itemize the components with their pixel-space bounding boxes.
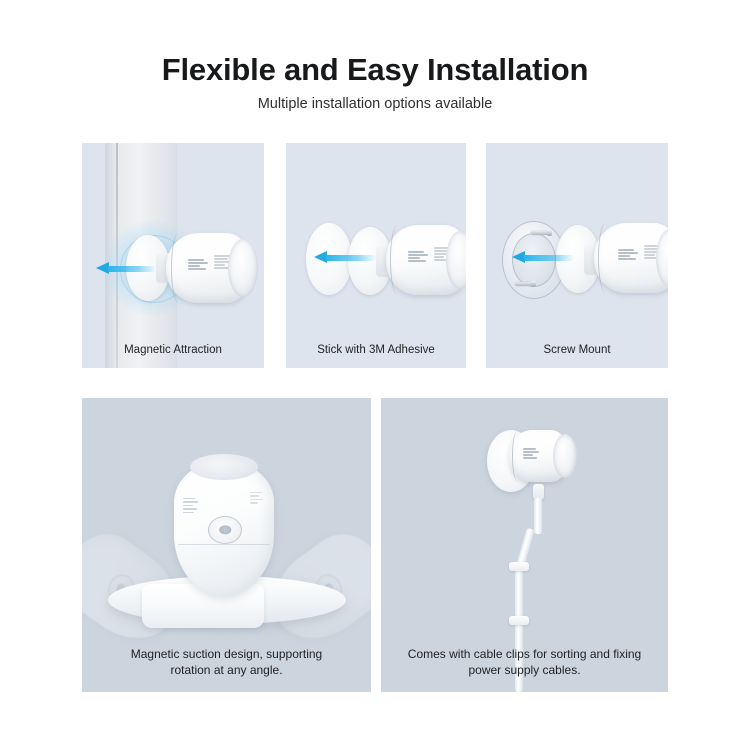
caption-line-1: Comes with cable clips for sorting and f… — [408, 647, 641, 661]
magnetic-arrow-icon — [96, 262, 156, 275]
magnetic-arrow-icon — [314, 251, 376, 264]
certification-marks-icon — [523, 448, 541, 459]
caption-line-1: Magnetic suction design, supporting — [131, 647, 322, 661]
panel-magnetic-attraction[interactable]: Magnetic Attraction — [82, 143, 264, 368]
screw-bottom-icon — [515, 282, 535, 286]
camera-button-icon[interactable] — [208, 516, 242, 544]
certification-marks-icon — [188, 259, 210, 270]
camera-label-icon — [250, 492, 264, 504]
panel-rotation-design[interactable]: Magnetic suction design, supporting rota… — [82, 398, 371, 692]
panel-caption: Comes with cable clips for sorting and f… — [387, 646, 662, 678]
camera-body-seam — [512, 430, 523, 482]
caption-line-2: power supply cables. — [468, 663, 580, 677]
page-title: Flexible and Easy Installation — [0, 52, 750, 88]
panel-cable-clips[interactable]: Comes with cable clips for sorting and f… — [381, 398, 668, 692]
camera-vents-icon — [183, 498, 199, 513]
caption-line-2: rotation at any angle. — [170, 663, 282, 677]
scene-adhesive — [286, 143, 466, 368]
power-cable-icon — [534, 498, 542, 534]
scene-screw — [486, 143, 668, 368]
panel-caption: Magnetic Attraction — [88, 343, 258, 359]
cable-clip-icon — [509, 616, 529, 625]
infographic-page: Flexible and Easy Installation Multiple … — [0, 0, 750, 750]
camera-icon — [509, 428, 585, 490]
panel-adhesive-mount[interactable]: Stick with 3M Adhesive — [286, 143, 466, 368]
screw-top-icon — [531, 231, 551, 235]
certification-marks-icon — [618, 249, 640, 260]
certification-marks-icon — [408, 251, 430, 262]
cable-clip-icon — [509, 562, 529, 571]
camera-lens — [190, 454, 258, 480]
panel-caption: Stick with 3M Adhesive — [292, 343, 460, 359]
camera-lens — [553, 434, 577, 478]
page-subtitle: Multiple installation options available — [0, 96, 750, 112]
magnetic-arrow-icon — [512, 251, 574, 264]
camera-lens — [228, 239, 258, 297]
panel-caption: Magnetic suction design, supporting rota… — [88, 646, 365, 678]
camera-seam-line — [178, 544, 270, 545]
panel-caption: Screw Mount — [492, 343, 662, 359]
camera-body-seam — [171, 233, 186, 303]
camera-body-seam — [390, 225, 405, 295]
camera-icon — [170, 454, 278, 604]
panel-screw-mount[interactable]: Screw Mount — [486, 143, 668, 368]
camera-body-seam — [598, 223, 613, 293]
scene-magnetic — [82, 143, 264, 368]
